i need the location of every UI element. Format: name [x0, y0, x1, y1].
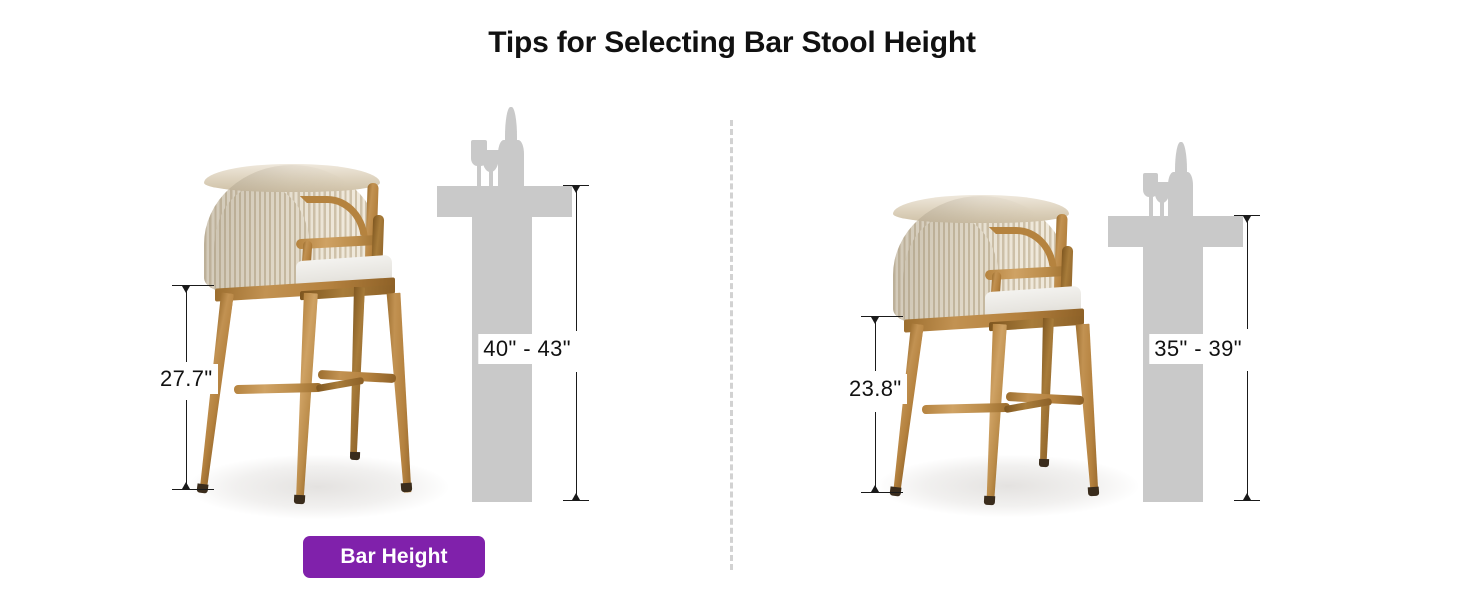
- dimension-arrow-bottom: [1243, 493, 1251, 500]
- counter-table-column: [1143, 247, 1203, 502]
- chair-foot-front-left: [294, 495, 305, 505]
- dimension-line-lower: [1247, 371, 1248, 500]
- dimension-line-lower: [186, 400, 187, 489]
- dimension-cap-bottom: [172, 489, 214, 490]
- dimension-arrow-bottom: [182, 482, 190, 489]
- bar-height-button[interactable]: Bar Height: [303, 536, 485, 578]
- dimension-line-upper: [1247, 216, 1248, 329]
- champagne-flute-stem-icon: [477, 163, 481, 187]
- dimension-line-upper: [576, 186, 577, 331]
- panel-bar-height: 40" - 43": [0, 0, 730, 600]
- wine-bottle-body-icon: [498, 140, 524, 190]
- dimension-cap-top: [861, 316, 903, 317]
- dimension-line-upper: [186, 286, 187, 362]
- champagne-flute-stem-icon: [1149, 194, 1153, 216]
- counter-table-height-label: 35" - 39": [1149, 334, 1247, 364]
- dimension-cap-top: [172, 285, 214, 286]
- bar-stool-seat-height-label: 27.7": [155, 364, 218, 394]
- counter-stool-seat-height-label: 23.8": [844, 374, 907, 404]
- bar-table-height-label: 40" - 43": [478, 334, 576, 364]
- dimension-arrow-top: [1243, 216, 1251, 223]
- chair-foot-front-right: [401, 483, 413, 493]
- dimension-arrow-top: [572, 186, 580, 193]
- dimension-line-upper: [875, 317, 876, 371]
- wine-glass-icon: [482, 150, 499, 172]
- counter-table-top: [1108, 216, 1243, 247]
- chair-shadow: [878, 455, 1138, 517]
- chair-foot-front-right: [1088, 487, 1100, 497]
- wine-bottle-body-icon: [1168, 172, 1193, 220]
- chair-leg-rear-right: [1037, 318, 1054, 466]
- dimension-arrow-top: [182, 286, 190, 293]
- chair-foot-rear-right: [350, 452, 360, 460]
- dimension-line-lower: [576, 372, 577, 500]
- dimension-cap-bottom: [563, 500, 589, 501]
- panel-counter-height: 35" - 39": [730, 0, 1464, 600]
- chair-foot-front-left: [984, 496, 995, 506]
- dimension-cap-bottom: [1234, 500, 1260, 501]
- dimension-arrow-top: [871, 317, 879, 324]
- dimension-line-lower: [875, 412, 876, 492]
- dimension-cap-bottom: [861, 492, 903, 493]
- chair-foot-rear-right: [1039, 459, 1049, 467]
- dimension-arrow-bottom: [572, 493, 580, 500]
- dimension-arrow-bottom: [871, 485, 879, 492]
- bar-table-top: [437, 186, 572, 217]
